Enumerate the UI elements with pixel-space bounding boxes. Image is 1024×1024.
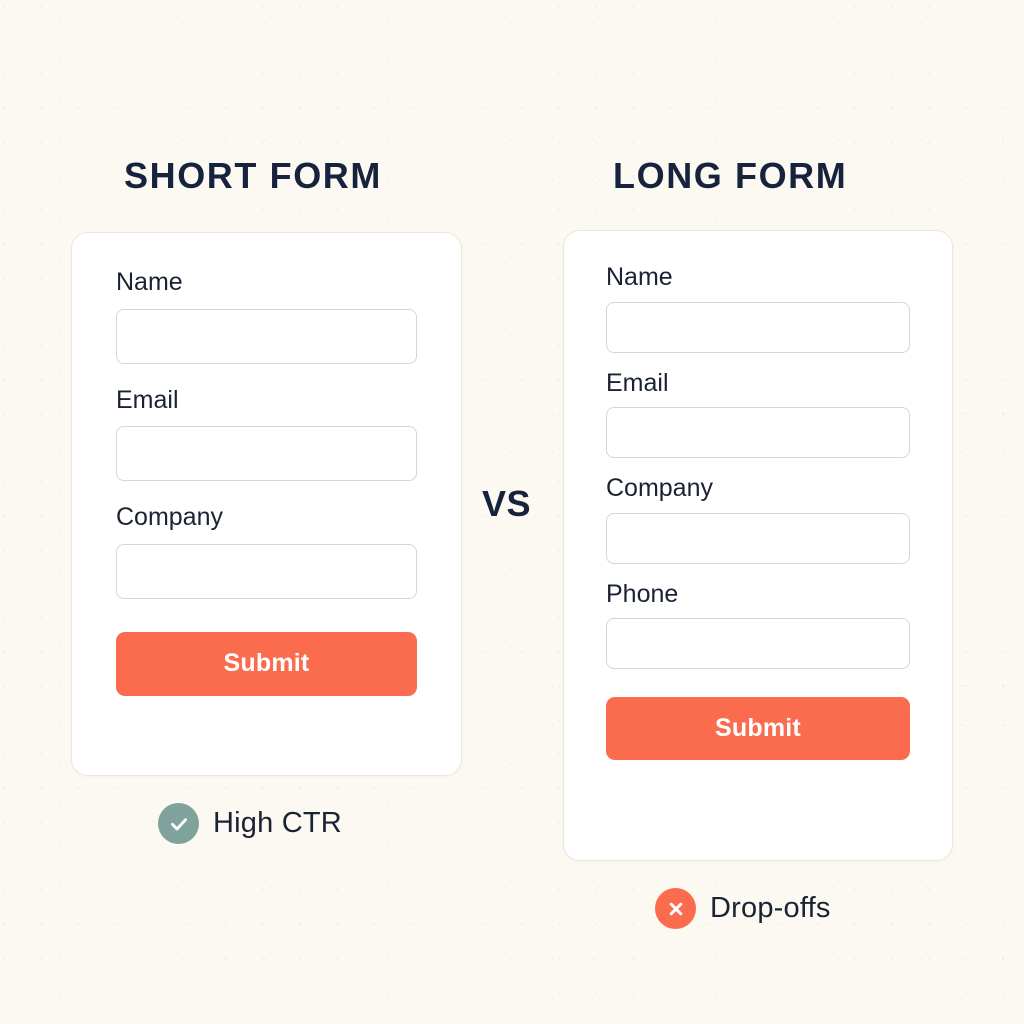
phone-input[interactable]	[606, 618, 910, 669]
field-company: Company	[606, 475, 910, 564]
field-label-company: Company	[606, 475, 910, 503]
check-circle-icon	[158, 803, 199, 844]
versus-divider: VS	[482, 483, 531, 525]
email-input[interactable]	[116, 426, 417, 481]
short-form-title: SHORT FORM	[124, 155, 382, 197]
name-input[interactable]	[606, 302, 910, 353]
company-input[interactable]	[606, 513, 910, 564]
field-phone: Phone	[606, 581, 910, 670]
short-form-outcome: High CTR	[158, 803, 342, 844]
long-form-submit-button[interactable]: Submit	[606, 697, 910, 760]
company-input[interactable]	[116, 544, 417, 599]
comparison-graphic: SHORT FORM LONG FORM VS Name Email Compa…	[0, 0, 1024, 1024]
name-input[interactable]	[116, 309, 417, 364]
email-input[interactable]	[606, 407, 910, 458]
field-email: Email	[116, 387, 417, 482]
field-name: Name	[606, 264, 910, 353]
x-circle-icon	[655, 888, 696, 929]
field-label-name: Name	[606, 264, 910, 292]
field-label-phone: Phone	[606, 581, 910, 609]
field-label-name: Name	[116, 269, 417, 297]
long-form-outcome-label: Drop-offs	[710, 892, 831, 925]
field-company: Company	[116, 504, 417, 599]
long-form-card: Name Email Company Phone Submit	[563, 230, 953, 861]
field-label-company: Company	[116, 504, 417, 532]
field-email: Email	[606, 370, 910, 459]
short-form-submit-button[interactable]: Submit	[116, 632, 417, 696]
field-name: Name	[116, 269, 417, 364]
long-form-title: LONG FORM	[613, 155, 847, 197]
short-form-outcome-label: High CTR	[213, 807, 342, 840]
field-label-email: Email	[606, 370, 910, 398]
field-label-email: Email	[116, 387, 417, 415]
long-form-outcome: Drop-offs	[655, 888, 831, 929]
short-form-card: Name Email Company Submit	[71, 232, 462, 776]
